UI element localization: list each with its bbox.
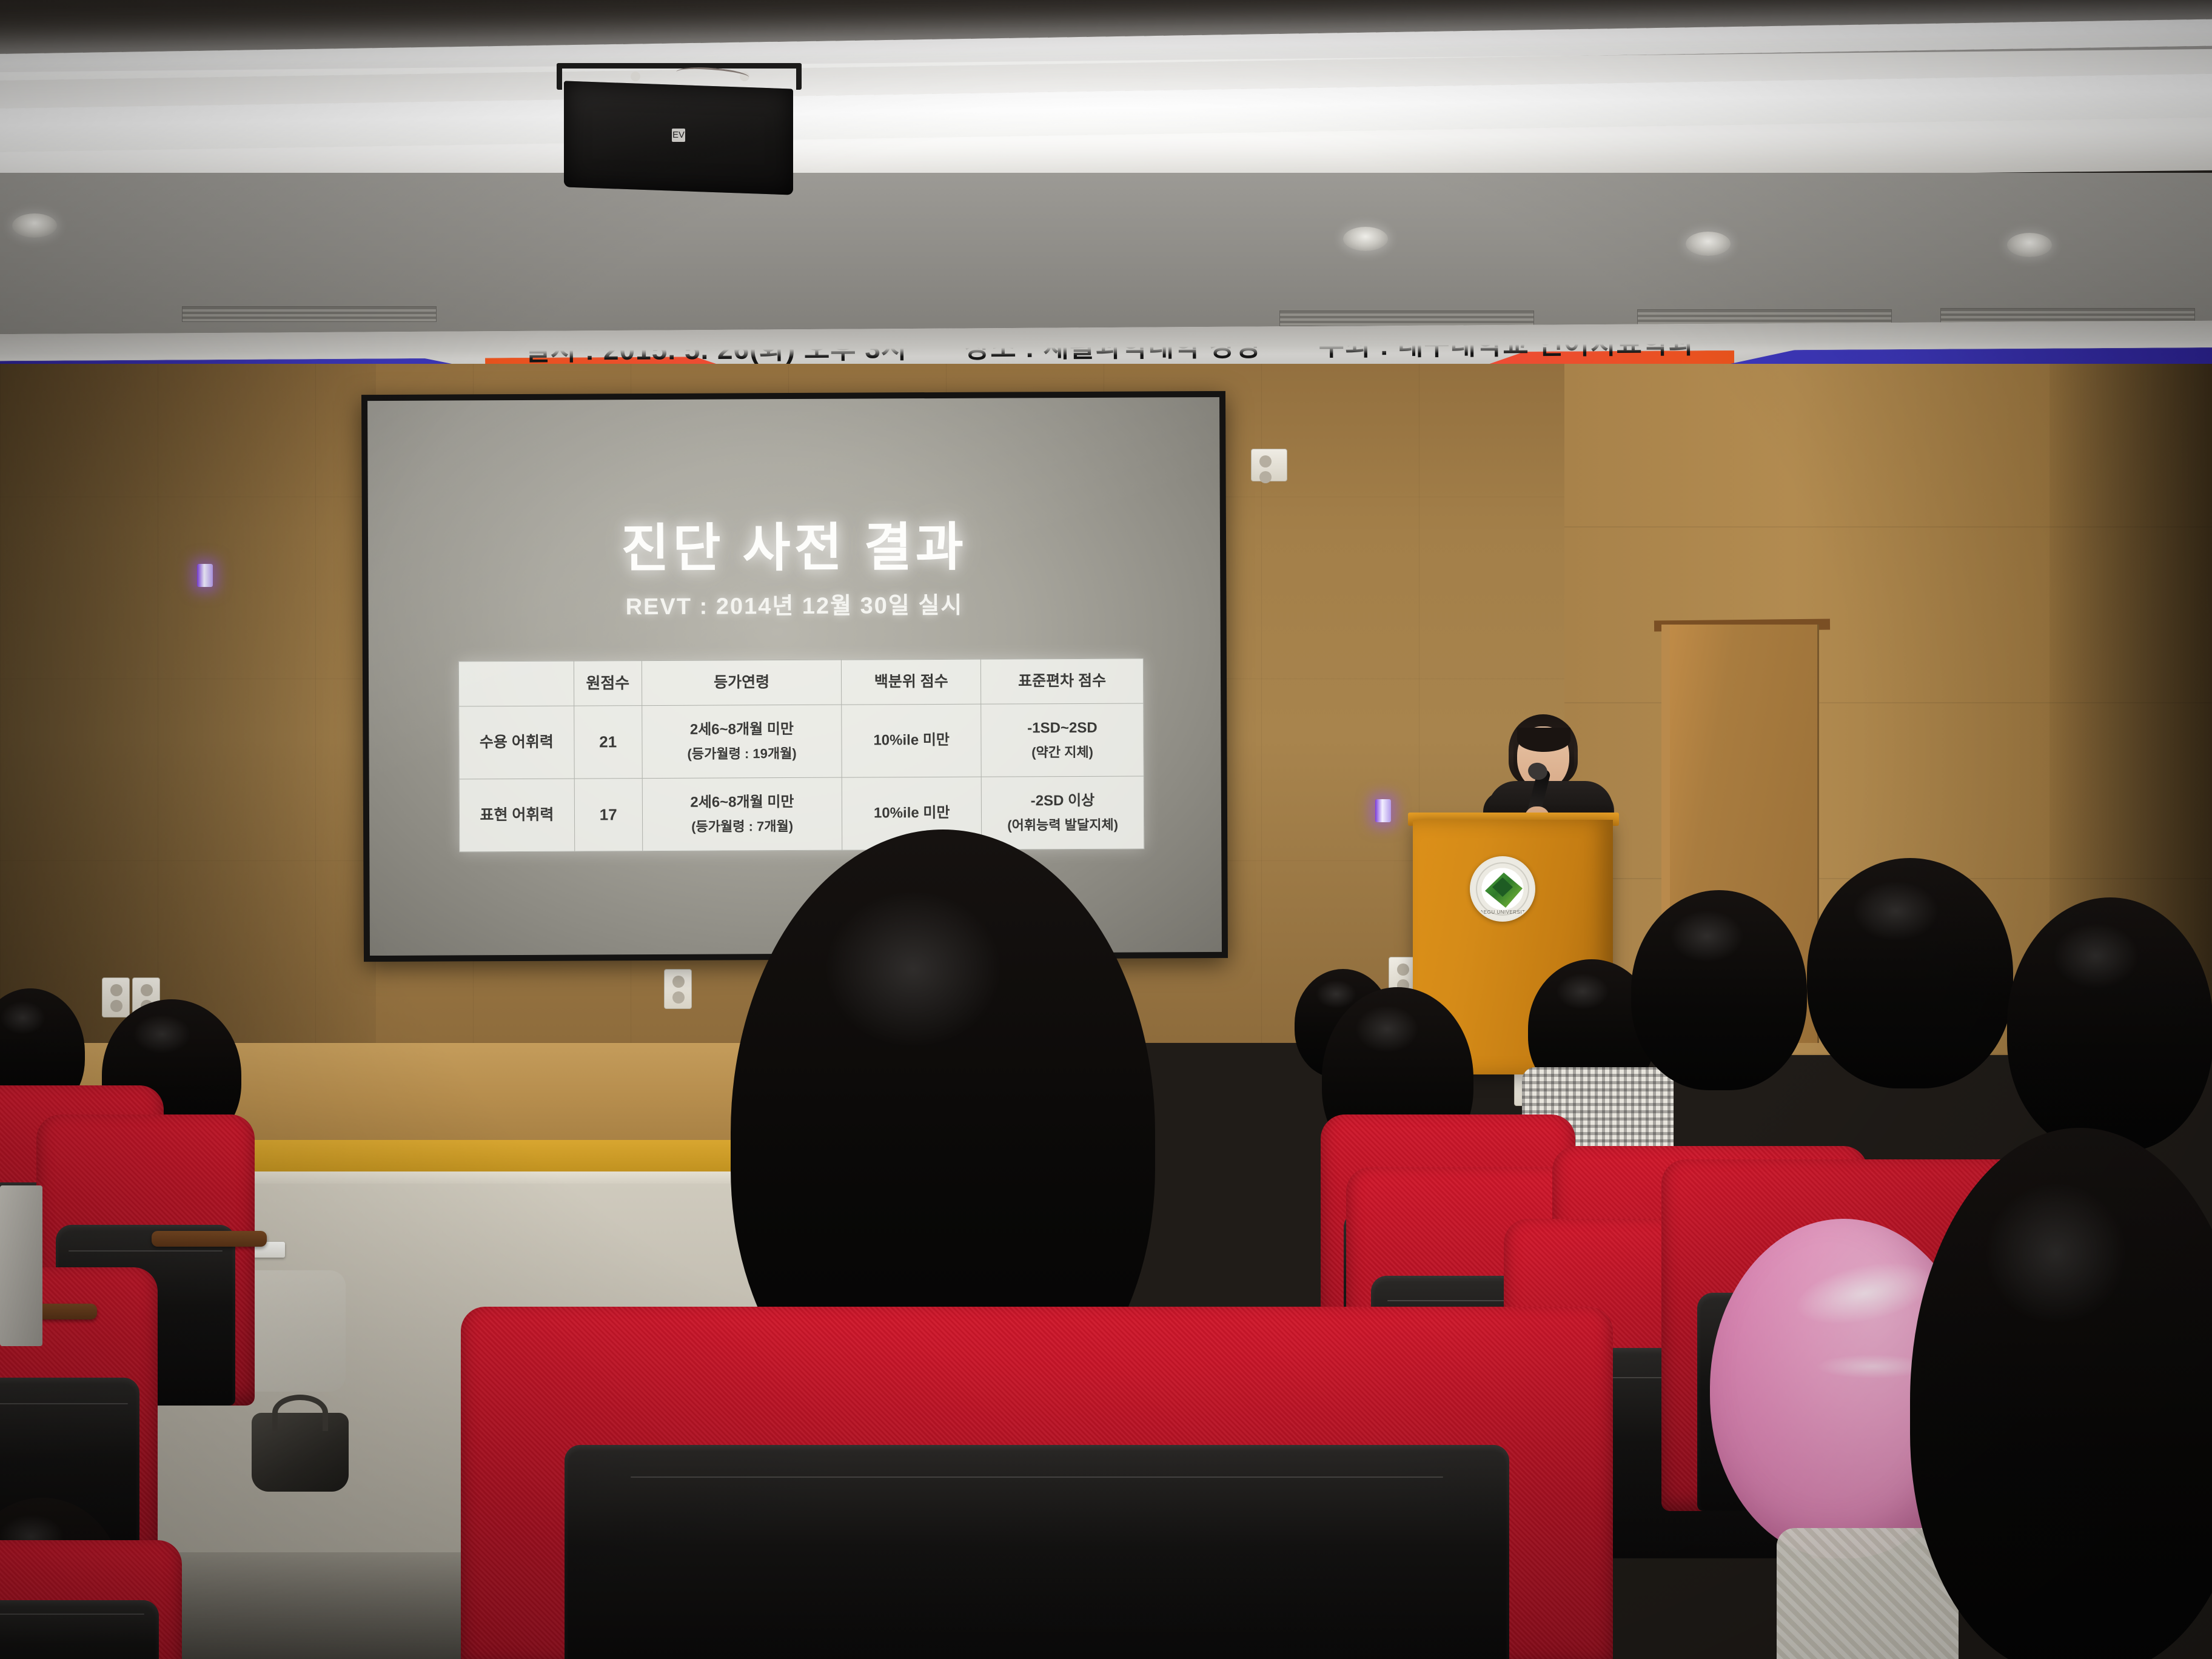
ceiling-downlight [1343, 227, 1388, 251]
left-wall-shadow [0, 364, 376, 1043]
seat-cushion [0, 1600, 159, 1659]
row-age-main: 2세6~8개월 미만 [690, 721, 794, 738]
speaker-mount-screw [631, 72, 640, 81]
auditorium-photo: EV 일시 : 2015. 5. 26(화) 오후 3시 장소 : 새활과학대학… [0, 0, 2212, 1659]
projection-screen-frame: 진단 사전 결과 REVT : 2014년 12월 30일 실시 원점수 등가연… [361, 391, 1228, 962]
slide-title: 진단 사전 결과 [368, 503, 1221, 583]
row-label: 표현 어휘력 [459, 779, 574, 852]
table-header-percentile: 백분위 점수 [842, 659, 981, 705]
row-sd-main: -1SD~2SD [1027, 720, 1098, 737]
audience-head [1807, 858, 2013, 1088]
ceiling-downlight [12, 213, 57, 238]
projection-screen: 진단 사전 결과 REVT : 2014년 12월 30일 실시 원점수 등가연… [367, 397, 1222, 956]
row-age-main: 2세6~8개월 미만 [690, 794, 794, 811]
seat-armrest [152, 1231, 267, 1247]
wall-indicator-led [1375, 799, 1391, 822]
audience-head [2007, 897, 2212, 1152]
table-header-raw: 원점수 [574, 661, 642, 706]
handbag-strap [272, 1395, 328, 1431]
seat-cushion [565, 1445, 1509, 1659]
auditorium-seat[interactable] [0, 1540, 182, 1659]
row-sd-main: -2SD 이상 [1031, 793, 1095, 809]
audience-head [1631, 890, 1807, 1090]
auditorium-seat-foreground[interactable] [461, 1307, 1613, 1659]
row-age: 2세6~8개월 미만 (등가월령 : 19개월) [642, 705, 842, 778]
table-row: 수용 어휘력 21 2세6~8개월 미만 (등가월령 : 19개월) 10%il… [459, 703, 1144, 779]
row-sd-sub: (어휘능력 발달지체) [984, 815, 1141, 835]
ceiling-downlight [2007, 233, 2052, 257]
handbag [252, 1413, 349, 1492]
slide-results-table: 원점수 등가연령 백분위 점수 표준편차 점수 수용 어휘력 21 2세6~8개… [458, 658, 1144, 852]
row-raw-score: 21 [574, 706, 642, 779]
row-age: 2세6~8개월 미만 (등가월령 : 7개월) [642, 777, 842, 851]
row-sd-sub: (약간 지체) [984, 742, 1141, 762]
speaker-brand-logo: EV [672, 129, 685, 142]
balloon-highlight [1791, 1253, 1938, 1335]
ceiling-speaker: EV [564, 85, 793, 191]
row-sd: -2SD 이상 (어휘능력 발달지체) [981, 776, 1144, 850]
laptop-device[interactable] [0, 1185, 42, 1346]
ceiling-air-vent [1279, 310, 1534, 326]
emblem-label: DAEGU UNIVERSITY [1472, 910, 1533, 915]
row-percentile: 10%ile 미만 [842, 704, 981, 777]
ceiling-air-vent [182, 306, 437, 322]
row-label: 수용 어휘력 [459, 706, 574, 779]
wall-control-panel[interactable] [1251, 449, 1287, 481]
table-header-age: 등가연령 [642, 660, 842, 705]
wall-power-outlet[interactable] [102, 977, 130, 1017]
slide-subtitle: REVT : 2014년 12월 30일 실시 [368, 585, 1220, 622]
table-row: 표현 어휘력 17 2세6~8개월 미만 (등가월령 : 7개월) 10%ile… [459, 776, 1144, 852]
university-emblem: DAEGU UNIVERSITY [1470, 856, 1535, 922]
row-age-sub: (등가월령 : 19개월) [645, 744, 839, 764]
ceiling-downlight [1686, 232, 1731, 256]
table-header-row: 원점수 등가연령 백분위 점수 표준편차 점수 [458, 659, 1143, 706]
row-age-sub: (등가월령 : 7개월) [645, 817, 840, 837]
row-raw-score: 17 [574, 779, 642, 851]
wall-power-outlet[interactable] [664, 969, 692, 1009]
wall-indicator-led [197, 564, 213, 587]
presenter-fringe [1517, 728, 1570, 752]
table-header-sd: 표준편차 점수 [981, 659, 1144, 704]
row-sd: -1SD~2SD (약간 지체) [981, 703, 1144, 777]
table-corner-cell [458, 661, 574, 706]
